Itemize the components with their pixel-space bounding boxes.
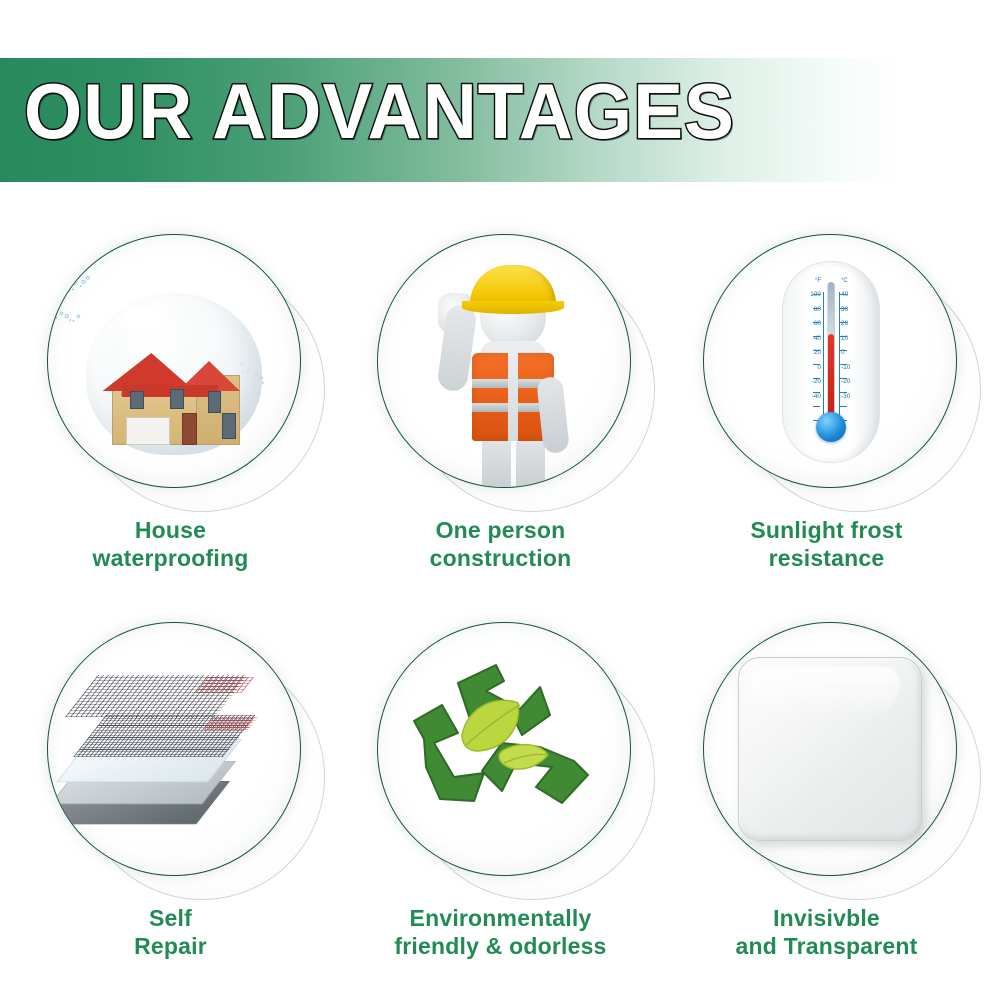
advantage-label-line2: resistance — [660, 544, 993, 572]
advantage-label-line2: friendly & odorless — [334, 932, 667, 960]
advantage-card-environmentally-friendly[interactable]: Environmentally friendly & odorless — [334, 604, 667, 994]
advantage-label-line2: construction — [334, 544, 667, 572]
fahrenheit-tick-marks — [813, 292, 824, 422]
circle-stack — [703, 622, 951, 884]
advantage-label-line2: Repair — [4, 932, 337, 960]
advantage-card-one-person-construction[interactable]: One person construction — [334, 216, 667, 606]
thermometer-icon: °F 100 80 60 40 20 0 -20 -40 °C 40 — [704, 235, 956, 487]
circle-stack: °··˚·°˚ ·˚°··˚ ˚·°·˚°· ··˚°· — [47, 234, 295, 496]
advantage-label: House waterproofing — [4, 516, 337, 572]
thermometer-tube-upper — [828, 282, 834, 334]
advantage-card-house-waterproofing[interactable]: °··˚·°˚ ·˚°··˚ ˚·°·˚°· ··˚°· — [4, 216, 337, 606]
circle-stack: °F 100 80 60 40 20 0 -20 -40 °C 40 — [703, 234, 951, 496]
house-front-door — [182, 413, 197, 445]
membrane-layer-mesh-red — [196, 677, 254, 693]
circle-stack — [377, 234, 625, 496]
house-window — [170, 389, 184, 409]
membrane-layer-mesh-red — [204, 717, 258, 730]
advantage-card-invisible-transparent[interactable]: Invisivble and Transparent — [660, 604, 993, 994]
advantage-circle — [377, 234, 631, 488]
vest-opening — [508, 353, 518, 441]
house-window — [208, 391, 221, 413]
advantage-label: Invisivble and Transparent — [660, 904, 993, 960]
glass-panel-gloss — [750, 667, 900, 719]
advantage-label-line1: Sunlight frost — [750, 517, 902, 543]
thermometer-mercury — [828, 334, 834, 424]
advantage-card-self-repair[interactable]: Self Repair — [4, 604, 337, 994]
advantage-label: Sunlight frost resistance — [660, 516, 993, 572]
house-garage-door — [126, 417, 170, 445]
advantage-label-line2: waterproofing — [4, 544, 337, 572]
celsius-unit-label: °C — [841, 278, 867, 284]
transparent-panel-icon — [704, 623, 956, 875]
house-window — [222, 413, 236, 439]
circle-stack — [47, 622, 295, 884]
advantage-circle — [47, 622, 301, 876]
advantages-grid: °··˚·°˚ ·˚°··˚ ˚·°·˚°· ··˚°· — [0, 206, 1000, 1000]
water-splash-icon: ·˚°··˚ — [53, 313, 80, 328]
advantage-label-line1: Environmentally — [410, 905, 592, 931]
hard-hat-brim — [462, 301, 564, 314]
house-icon — [104, 339, 250, 447]
fahrenheit-unit-label: °F — [795, 278, 821, 284]
advantage-label-line1: House — [135, 517, 206, 543]
advantage-card-sunlight-frost-resistance[interactable]: °F 100 80 60 40 20 0 -20 -40 °C 40 — [660, 216, 993, 606]
advantage-label-line2: and Transparent — [660, 932, 993, 960]
advantage-circle — [703, 622, 957, 876]
house-window — [130, 391, 144, 409]
worker-leg — [482, 433, 511, 488]
water-splash-icon: °··˚·°˚ — [61, 278, 94, 300]
advantage-label-line1: Invisivble — [773, 905, 880, 931]
page-title: OUR ADVANTAGES — [24, 72, 735, 150]
construction-worker-icon — [378, 235, 630, 487]
bubble-gloss — [122, 307, 168, 331]
house-in-water-bubble-icon: °··˚·°˚ ·˚°··˚ ˚·°·˚°· ··˚°· — [48, 235, 300, 487]
membrane-layers — [76, 675, 272, 825]
advantage-label-line1: Self — [149, 905, 192, 931]
recycle-symbol-icon — [404, 649, 604, 849]
advantage-circle: °··˚·°˚ ·˚°··˚ ˚·°·˚°· ··˚°· — [47, 234, 301, 488]
advantage-label: Environmentally friendly & odorless — [334, 904, 667, 960]
celsius-tick-marks — [839, 292, 850, 422]
advantage-circle — [377, 622, 631, 876]
advantage-label: One person construction — [334, 516, 667, 572]
worker-figure — [424, 257, 594, 487]
advantage-circle: °F 100 80 60 40 20 0 -20 -40 °C 40 — [703, 234, 957, 488]
advantage-label: Self Repair — [4, 904, 337, 960]
thermometer-body: °F 100 80 60 40 20 0 -20 -40 °C 40 — [782, 261, 880, 463]
thermometer-bulb — [816, 412, 846, 442]
advantage-label-line1: One person — [436, 517, 566, 543]
circle-stack — [377, 622, 625, 884]
worker-leg — [516, 433, 545, 488]
recycle-leaf-icon — [378, 623, 630, 875]
layered-membrane-icon — [48, 623, 300, 875]
